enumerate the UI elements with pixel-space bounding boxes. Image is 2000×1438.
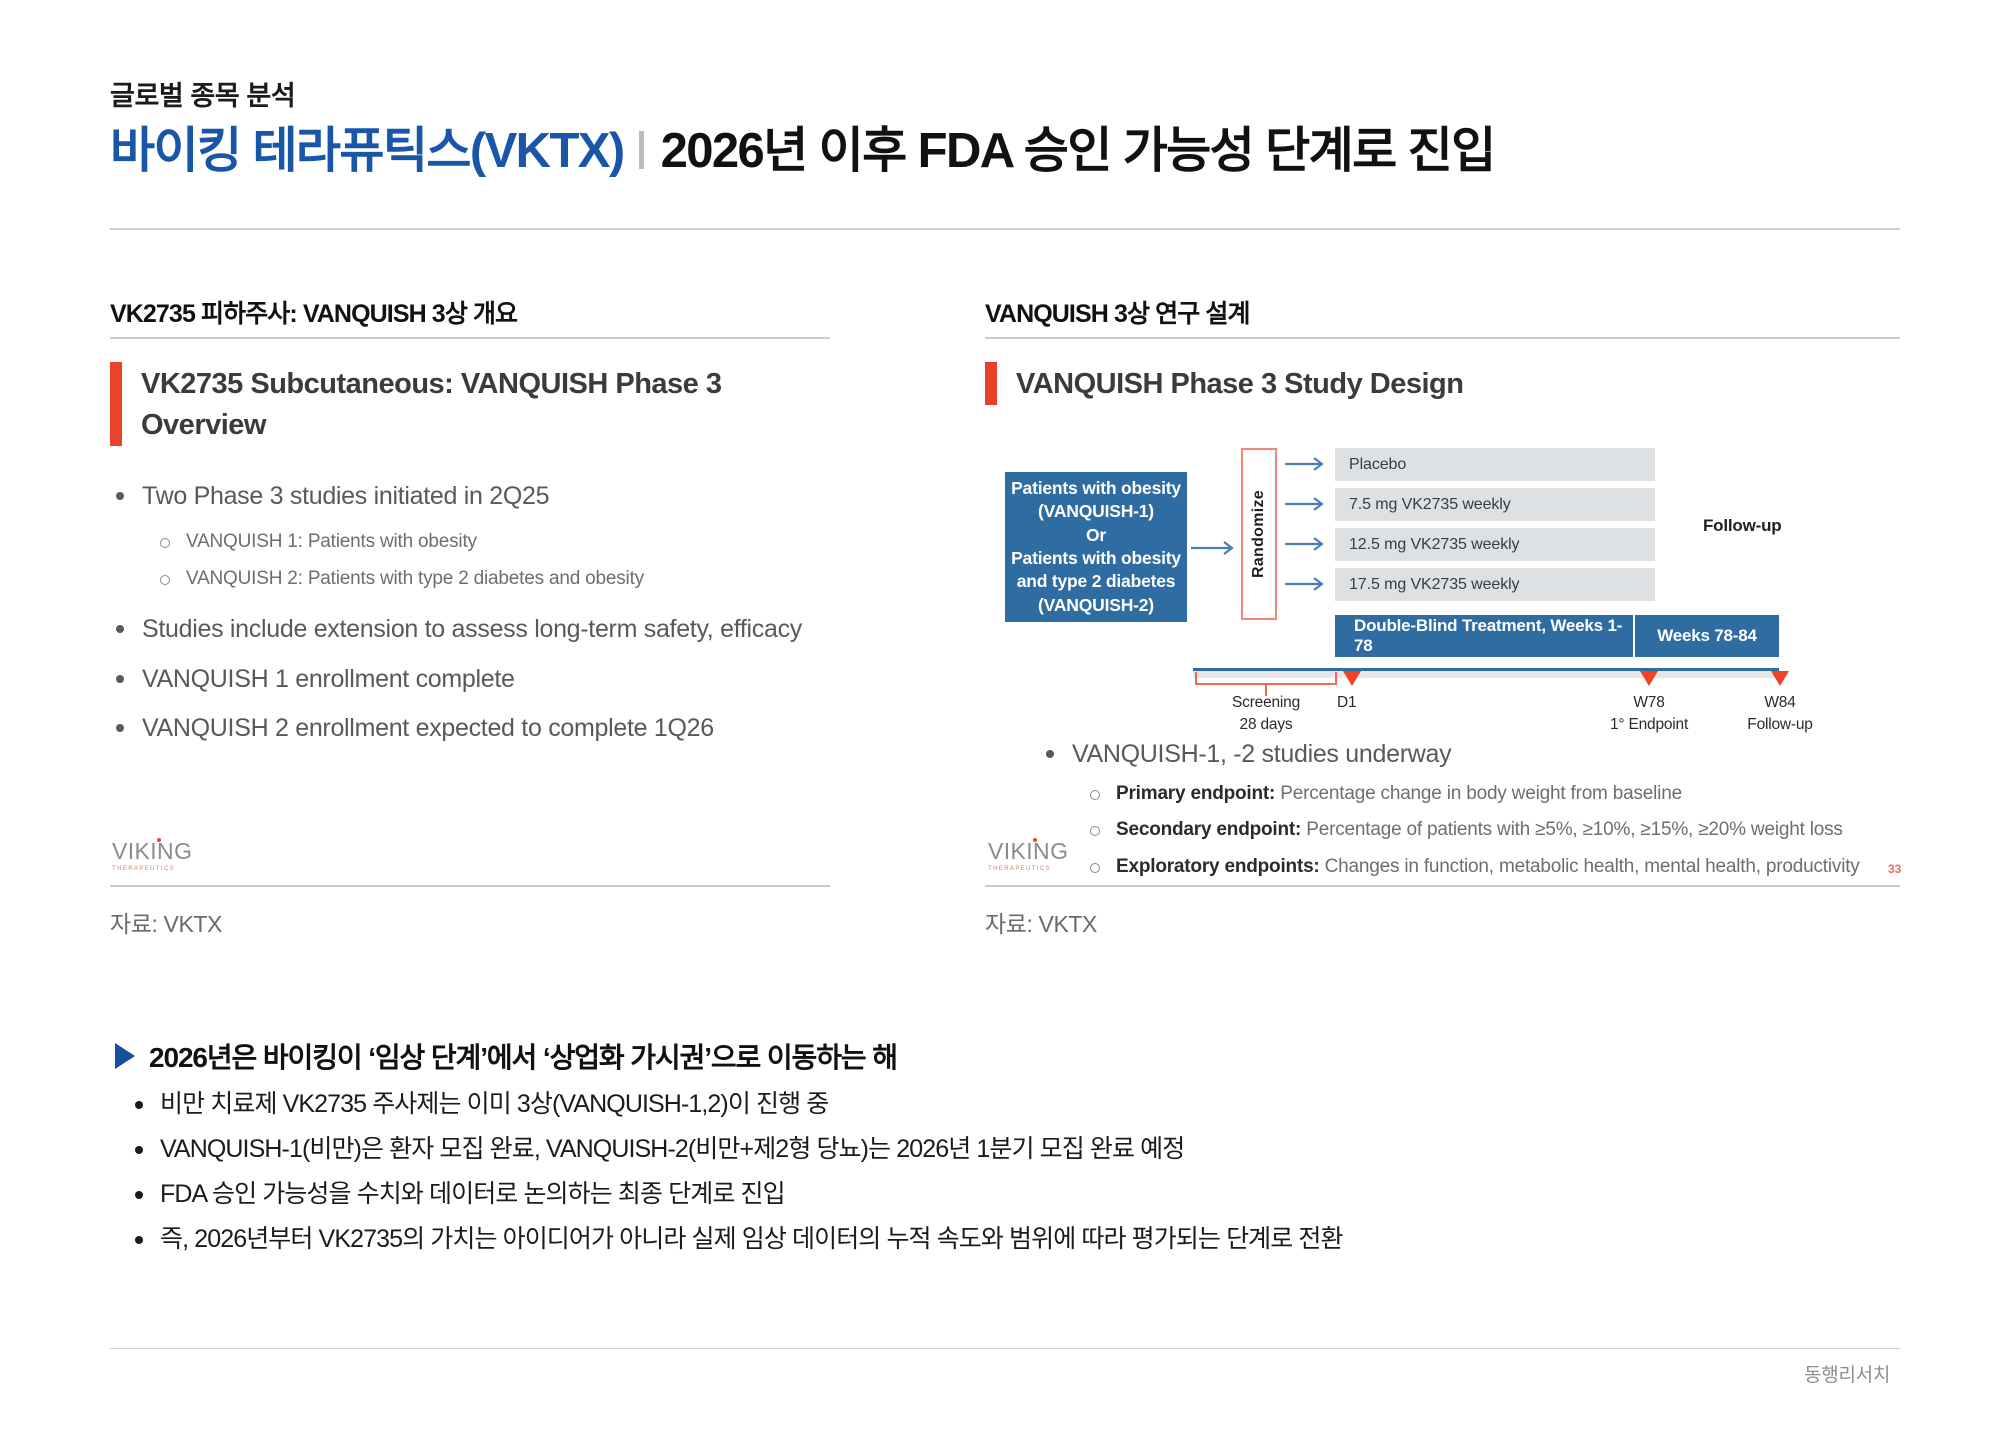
- bullet-item: Exploratory endpoints: Changes in functi…: [1040, 855, 1920, 880]
- right-slide-title-row: VANQUISH Phase 3 Study Design: [985, 362, 1915, 405]
- bullet-item: VANQUISH-1, -2 studies underway: [1040, 738, 1920, 771]
- slide-page-number: 33: [1888, 862, 1901, 876]
- arm-arrow-icon: [1285, 495, 1329, 513]
- commentary-bullet: VANQUISH-1(비만)은 환자 모집 완료, VANQUISH-2(비만+…: [130, 1133, 1184, 1166]
- right-panel-heading: VANQUISH 3상 연구 설계: [985, 294, 1250, 330]
- treatment-arm: 17.5 mg VK2735 weekly: [1335, 568, 1655, 601]
- footer-divider: [110, 1348, 1900, 1349]
- viking-logo-dot-icon: [157, 838, 161, 842]
- randomize-box: Randomize: [1241, 448, 1277, 620]
- left-slide-title-row: VK2735 Subcutaneous: VANQUISH Phase 3 Ov…: [110, 362, 850, 446]
- treatment-band-followup: Weeks 78-84: [1633, 615, 1779, 657]
- screening-bracket: [1195, 672, 1337, 685]
- left-panel-heading: VK2735 피하주사: VANQUISH 3상 개요: [110, 294, 517, 330]
- footer-text: 동행리서치: [1804, 1360, 1890, 1387]
- header-divider: [110, 228, 1900, 230]
- bullet-item: Two Phase 3 studies initiated in 2Q25: [110, 480, 850, 513]
- timeline-label-w78-tick: W78: [1633, 694, 1664, 711]
- viking-logo-subtext: THERAPEUTICS: [988, 866, 1084, 872]
- bullet-item: VANQUISH 2: Patients with type 2 diabete…: [110, 567, 850, 592]
- bullet-text: Percentage of patients with ≥5%, ≥10%, ≥…: [1301, 819, 1843, 840]
- timeline-label-w84: W84 Follow-up: [1705, 692, 1855, 736]
- viking-logo-wordmark: VIKING: [988, 840, 1068, 863]
- bullet-lead: Exploratory endpoints:: [1116, 856, 1320, 877]
- viking-logo: VIKING THERAPEUTICS: [988, 840, 1084, 872]
- treatment-arm: 7.5 mg VK2735 weekly: [1335, 488, 1655, 521]
- left-slide-title: VK2735 Subcutaneous: VANQUISH Phase 3 Ov…: [141, 362, 850, 446]
- right-slide-title: VANQUISH Phase 3 Study Design: [1016, 362, 1463, 405]
- right-source-text: 자료: VKTX: [985, 905, 1097, 939]
- patients-box: Patients with obesity(VANQUISH-1)OrPatie…: [1005, 472, 1187, 622]
- red-accent-bar: [110, 362, 122, 446]
- treatment-arm: 12.5 mg VK2735 weekly: [1335, 528, 1655, 561]
- title-subject: 2026년 이후 FDA 승인 가능성 단계로 진입: [661, 126, 1495, 177]
- commentary-heading: 2026년은 바이킹이 ‘임상 단계’에서 ‘상업화 가시권’으로 이동하는 해: [115, 1036, 897, 1076]
- left-source-divider: [110, 885, 830, 887]
- study-design-diagram: Patients with obesity(VANQUISH-1)OrPatie…: [985, 440, 1915, 730]
- treatment-band-main: Double-Blind Treatment, Weeks 1-78: [1335, 615, 1633, 657]
- commentary-bullet: 비만 치료제 VK2735 주사제는 이미 3상(VANQUISH-1,2)이 …: [130, 1088, 828, 1121]
- bullet-item: VANQUISH 1 enrollment complete: [110, 663, 850, 696]
- arm-arrow-icon: [1285, 575, 1329, 593]
- page-title: 바이킹 테라퓨틱스(VKTX) 2026년 이후 FDA 승인 가능성 단계로 …: [110, 126, 1900, 177]
- report-slide-page: 글로벌 종목 분석 바이킹 테라퓨틱스(VKTX) 2026년 이후 FDA 승…: [0, 0, 2000, 1438]
- screening-days-text: 28 days: [1240, 716, 1293, 733]
- bullet-lead: Secondary endpoint:: [1116, 819, 1301, 840]
- timeline-label-w78: W78 1° Endpoint: [1574, 692, 1724, 736]
- randomize-arrow-icon: [1191, 539, 1239, 557]
- triangle-bullet-icon: [115, 1043, 135, 1069]
- randomize-box-label: Randomize: [1250, 490, 1268, 578]
- bullet-lead: Primary endpoint:: [1116, 783, 1275, 804]
- timeline-label-w84-tick: W84: [1764, 694, 1795, 711]
- kicker-label: 글로벌 종목 분석: [110, 82, 1900, 112]
- bullet-text: Percentage change in body weight from ba…: [1275, 783, 1682, 804]
- screening-label-text: Screening: [1232, 694, 1300, 711]
- viking-logo-dot-icon: [1033, 838, 1037, 842]
- title-company: 바이킹 테라퓨틱스(VKTX): [110, 126, 624, 177]
- right-source-divider: [985, 885, 1900, 887]
- bullet-item: Primary endpoint: Percentage change in b…: [1040, 782, 1920, 807]
- left-panel-divider: [110, 337, 830, 339]
- bullet-item: Studies include extension to assess long…: [110, 613, 850, 646]
- red-accent-bar: [985, 362, 997, 405]
- commentary-heading-text: 2026년은 바이킹이 ‘임상 단계’에서 ‘상업화 가시권’으로 이동하는 해: [149, 1036, 897, 1076]
- right-panel-divider: [985, 337, 1900, 339]
- timeline-label-w84-sub: Follow-up: [1747, 716, 1812, 733]
- viking-logo-text: VIKING: [988, 838, 1068, 864]
- commentary-bullet: FDA 승인 가능성을 수치와 데이터로 논의하는 최종 단계로 진입: [130, 1178, 785, 1211]
- timeline-label-d1: D1: [1337, 692, 1397, 714]
- treatment-arm: Placebo: [1335, 448, 1655, 481]
- followup-label: Follow-up: [1703, 516, 1781, 536]
- bullet-item: VANQUISH 1: Patients with obesity: [110, 530, 850, 555]
- viking-logo-text: VIKING: [112, 838, 192, 864]
- patients-box-label: Patients with obesity(VANQUISH-1)OrPatie…: [1011, 477, 1181, 617]
- viking-logo: VIKING THERAPEUTICS: [112, 840, 208, 872]
- screening-label: Screening 28 days: [1206, 692, 1326, 736]
- timeline-marker-w84: [1771, 671, 1789, 686]
- timeline-marker-w78: [1640, 671, 1658, 686]
- arm-arrow-icon: [1285, 455, 1329, 473]
- bullet-text: Changes in function, metabolic health, m…: [1320, 856, 1860, 877]
- title-separator: [639, 131, 644, 169]
- bullet-item: VANQUISH 2 enrollment expected to comple…: [110, 712, 850, 745]
- viking-logo-wordmark: VIKING: [112, 840, 192, 863]
- commentary-bullet: 즉, 2026년부터 VK2735의 가치는 아이디어가 아니라 실제 임상 데…: [130, 1223, 1343, 1256]
- page-header: 글로벌 종목 분석 바이킹 테라퓨틱스(VKTX) 2026년 이후 FDA 승…: [110, 82, 1900, 177]
- arm-arrow-icon: [1285, 535, 1329, 553]
- left-source-text: 자료: VKTX: [110, 905, 222, 939]
- timeline-marker-d1: [1343, 671, 1361, 686]
- bullet-item: Secondary endpoint: Percentage of patien…: [1040, 818, 1920, 843]
- right-slide-bullets: VANQUISH-1, -2 studies underway Primary …: [1040, 738, 1920, 892]
- left-slide-card: VK2735 Subcutaneous: VANQUISH Phase 3 Ov…: [110, 362, 850, 762]
- viking-logo-subtext: THERAPEUTICS: [112, 866, 208, 872]
- timeline-label-w78-sub: 1° Endpoint: [1610, 716, 1688, 733]
- right-slide-card: VANQUISH Phase 3 Study Design: [985, 362, 1915, 405]
- left-slide-bullets: Two Phase 3 studies initiated in 2Q25 VA…: [110, 480, 850, 744]
